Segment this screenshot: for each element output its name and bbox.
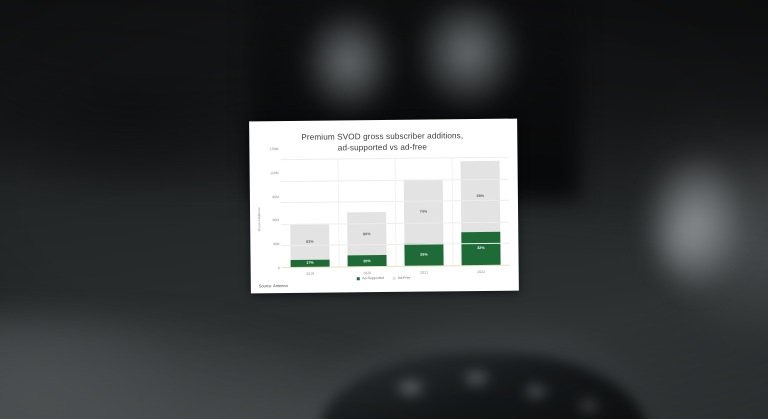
bar-segment-ad-supported[interactable]: 17% (291, 259, 330, 267)
source-note: Source: Antenna (258, 281, 510, 289)
bar-value-label: 68% (477, 194, 485, 198)
y-axis-title: Gross Additions (257, 207, 263, 231)
bar-segment-ad-supported[interactable]: 32% (461, 232, 500, 266)
x-axis-tick: 2021 (405, 270, 444, 274)
bar-value-label: 32% (477, 246, 485, 250)
bar-group[interactable]: 83%17% (290, 159, 330, 267)
bar-value-label: 20% (363, 259, 371, 263)
screenshot-stage: Premium SVOD gross subscriber additions,… (0, 0, 768, 419)
bar-value-label: 17% (306, 261, 314, 265)
chart-title: Premium SVOD gross subscriber additions,… (256, 130, 508, 155)
bar-value-label: 83% (306, 240, 314, 244)
x-axis-tick-labels: 2019202020212022 (282, 270, 510, 276)
y-axis-tick: 0 (278, 266, 280, 270)
y-axis-tick-labels: 030M60M90M120M150M (264, 159, 282, 278)
x-axis-tick: 2019 (291, 272, 330, 276)
x-axis-tick: 2022 (462, 270, 501, 274)
y-axis-tick: 120M (270, 171, 279, 175)
y-axis-tick: 60M (273, 218, 280, 222)
bar-value-label: 80% (363, 232, 371, 236)
bar-value-label: 26% (420, 252, 428, 256)
y-axis-tick: 30M (273, 242, 280, 246)
x-axis-tick: 2020 (348, 271, 387, 275)
plot-canvas: 83%17%80%20%74%26%68%32% 201920202021202… (281, 157, 510, 268)
y-axis-tick: 90M (272, 195, 279, 199)
y-axis-tick: 150M (270, 147, 279, 151)
plot-area: Gross Additions 030M60M90M120M150M 83%17… (257, 157, 510, 279)
bar-value-label: 74% (420, 209, 428, 213)
bar-group[interactable]: 74%26% (404, 157, 444, 265)
bar-group[interactable]: 68%32% (461, 157, 501, 265)
bar-segment-ad-free[interactable]: 74% (404, 179, 443, 243)
bar-segment-ad-supported[interactable]: 20% (348, 255, 387, 266)
chart-title-line1: Premium SVOD gross subscriber additions, (301, 131, 463, 142)
bar-group[interactable]: 80%20% (347, 158, 387, 266)
bar-segment-ad-free[interactable]: 83% (290, 223, 329, 259)
chart-card: Premium SVOD gross subscriber additions,… (249, 119, 519, 294)
bar-segment-ad-free[interactable]: 80% (347, 212, 386, 256)
chart-title-line2: ad-supported vs ad-free (256, 141, 508, 155)
bar-segment-ad-supported[interactable]: 26% (405, 243, 444, 266)
